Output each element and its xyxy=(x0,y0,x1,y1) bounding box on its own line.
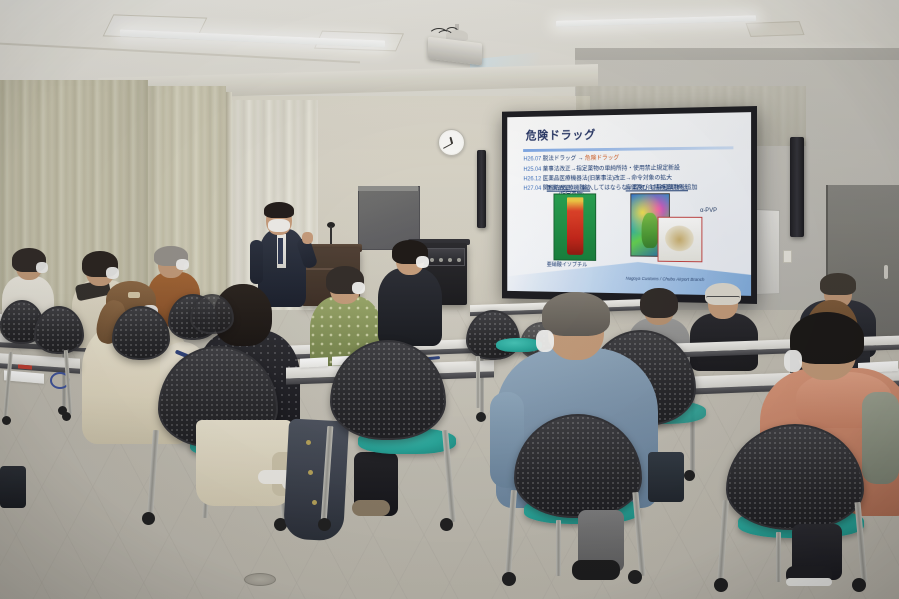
bag-under-table[interactable] xyxy=(648,452,684,502)
presenter-tie xyxy=(278,238,283,264)
dish-contents xyxy=(665,225,694,251)
av-knob-5[interactable] xyxy=(457,258,461,262)
slide-line-2-text: 薬事法改正→指定薬物の単純所持・使用禁止規定新設 xyxy=(543,164,680,172)
handout-paper-1[interactable] xyxy=(300,357,328,367)
chair-caster-a13-2 xyxy=(852,578,866,592)
slide-line-1-highlight: 危険ドラッグ xyxy=(585,155,619,162)
audience-a2-mask xyxy=(106,267,119,279)
bottle-body xyxy=(567,201,584,255)
coat-button-3 xyxy=(312,500,317,505)
av-knob-4[interactable] xyxy=(448,258,452,262)
audience-a3-mask xyxy=(176,259,189,270)
audience-a5-shoe xyxy=(352,500,390,516)
presenter-hand xyxy=(302,232,313,244)
ceiling-vent-1 xyxy=(745,21,804,37)
slide-line-1-date: H26.07 xyxy=(523,156,541,163)
chair-leg-rear-6 xyxy=(476,356,480,408)
board-top-trim xyxy=(358,186,418,191)
audience-a8-hair xyxy=(542,292,610,336)
floor-outlet xyxy=(244,573,276,586)
seminar-room-photo: 危険ドラッグ H26.07 脱法ドラッグ → 危険ドラッグ H25.04 薬事法… xyxy=(0,0,899,599)
slide-line-3-date: H26.12 xyxy=(523,175,541,182)
door-handle[interactable] xyxy=(884,265,888,279)
chair-leg-a13-3 xyxy=(776,532,781,582)
podium-microphone-stem xyxy=(330,226,332,246)
slide-line-1-text: 脱法ドラッグ → xyxy=(543,155,585,162)
coat-button-2 xyxy=(308,470,313,475)
audience-a4-hair-clip xyxy=(128,292,140,298)
chair-caster-a13-1 xyxy=(714,578,728,592)
slide-title: 危険ドラッグ xyxy=(526,126,596,143)
presentation-slide: 危険ドラッグ H26.07 脱法ドラッグ → 危険ドラッグ H25.04 薬事法… xyxy=(507,112,751,296)
chair-caster-a5-2 xyxy=(440,518,453,531)
slide-line-2-date: H25.04 xyxy=(523,166,541,173)
chair-caster-a8-2 xyxy=(628,570,642,584)
audience-a9-hair xyxy=(640,288,678,318)
slide-line-3-text: 医薬品医療機器法(旧薬事法)改正→命令対象の拡大 xyxy=(543,174,672,182)
slide-image-rush-bottle xyxy=(554,193,596,261)
av-knob-2[interactable] xyxy=(430,258,434,262)
audience-a1-mask xyxy=(36,262,48,273)
clock-center-pin xyxy=(451,142,453,144)
projection-screen: 危険ドラッグ H26.07 脱法ドラッグ → 危険ドラッグ H25.04 薬事法… xyxy=(502,106,757,304)
presenter-arm-left xyxy=(250,240,263,284)
screen-surface: 危険ドラッグ H26.07 脱法ドラッグ → 危険ドラッグ H25.04 薬事法… xyxy=(507,112,751,296)
audience-a13-mask xyxy=(784,350,802,372)
table-caster-3 xyxy=(476,412,486,422)
wall-speaker-right xyxy=(790,137,804,237)
audience-a8-shoe xyxy=(572,560,620,580)
slide-line-4-date: H27.04 xyxy=(523,185,541,192)
audience-a10-glasses xyxy=(706,296,740,303)
package-figure xyxy=(642,213,658,248)
wall-speaker-left xyxy=(477,150,486,228)
slide-image-dish xyxy=(658,217,702,263)
audience-a13-sleeve xyxy=(862,392,899,484)
audience-a7-body xyxy=(378,268,442,346)
audience-a11-hair xyxy=(820,273,856,295)
audience-a6-mask xyxy=(352,282,365,294)
bag-floor-left[interactable] xyxy=(0,466,26,508)
wall-outlet-3[interactable] xyxy=(783,250,792,263)
whiteboard xyxy=(755,209,780,295)
chair-caster-2 xyxy=(62,412,71,421)
av-knob-3[interactable] xyxy=(439,258,443,262)
presenter-hair xyxy=(264,202,294,218)
table-caster-4 xyxy=(684,470,695,481)
draped-coat xyxy=(283,419,349,542)
coat-button-1 xyxy=(306,440,311,445)
chair-caster-a4-1 xyxy=(142,512,155,525)
audience-a13-shoe-sole xyxy=(786,578,832,586)
chair-leg-a8-3 xyxy=(556,520,561,576)
chair-caster-1 xyxy=(2,416,11,425)
slide-caption-left-item: 亜硝酸イソブチル xyxy=(547,260,587,268)
projector-cable-3 xyxy=(444,27,460,42)
presenter-mask xyxy=(268,219,290,232)
audience-a7-mask xyxy=(416,256,429,268)
wall-clock xyxy=(438,129,465,156)
audience-a8-mask xyxy=(536,330,554,352)
chair-caster-a5-1 xyxy=(318,518,331,531)
slide-label-pvp: α-PVP xyxy=(700,208,717,214)
chair-caster-a8-1 xyxy=(502,572,516,586)
slide-caption-right: 麻薬及び向精神薬取締法 xyxy=(626,182,688,191)
slide-title-rule xyxy=(523,146,733,152)
